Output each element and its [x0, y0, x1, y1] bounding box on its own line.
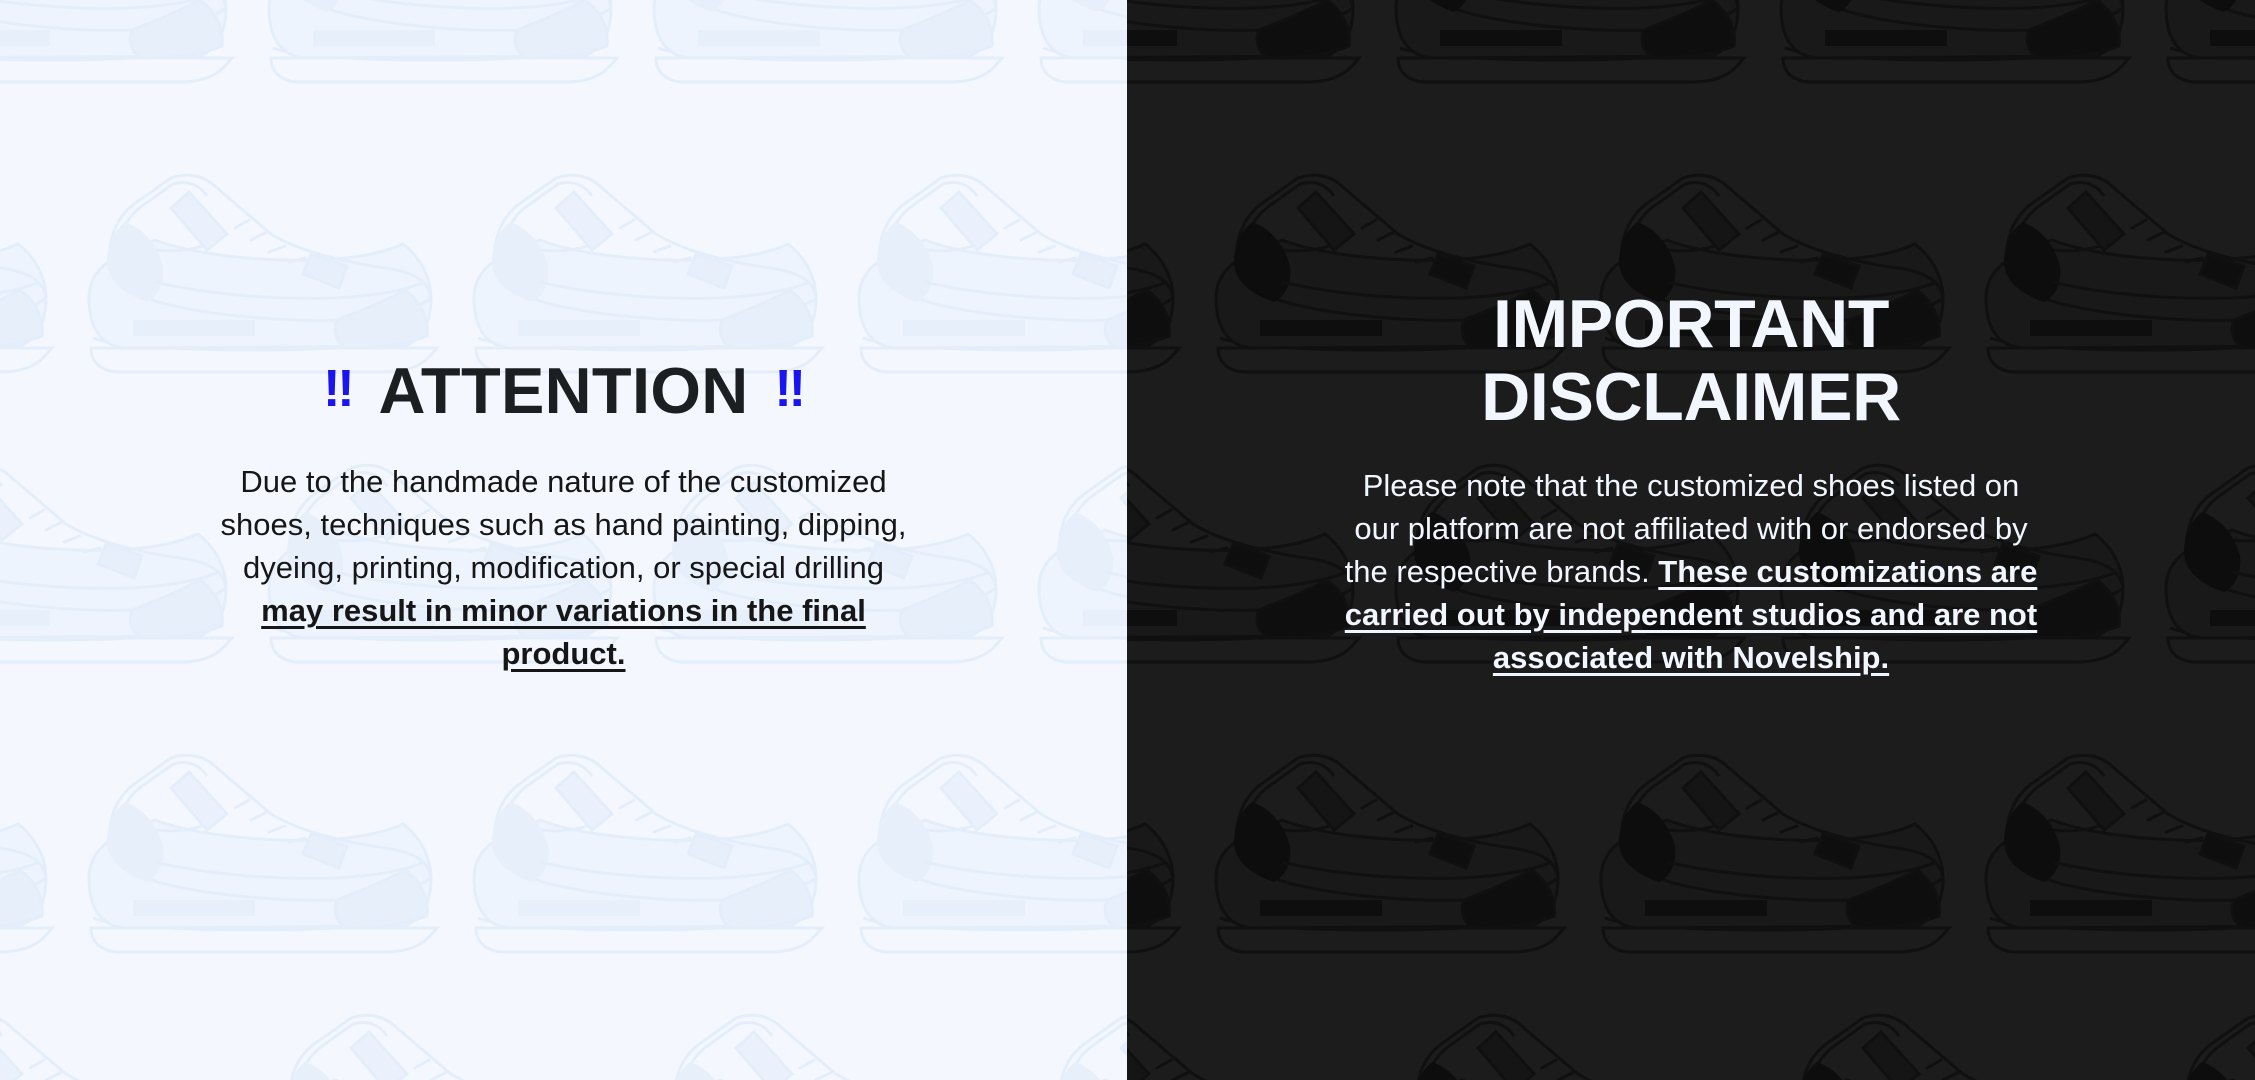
disclaimer-heading-line2: DISCLAIMER: [1481, 359, 1901, 435]
double-exclamation-icon-right: ‼: [775, 363, 804, 415]
disclaimer-content: IMPORTANT DISCLAIMER Please note that th…: [1127, 0, 2255, 679]
double-exclamation-icon-left: ‼: [323, 363, 352, 415]
disclaimer-body: Please note that the customized shoes li…: [1341, 464, 2041, 679]
disclaimer-heading-line1: IMPORTANT: [1493, 286, 1889, 362]
disclaimer-board: ‼ ATTENTION ‼ Due to the handmade nature…: [0, 0, 2255, 1080]
attention-panel: ‼ ATTENTION ‼ Due to the handmade nature…: [0, 0, 1127, 1080]
attention-body-plain: Due to the handmade nature of the custom…: [221, 464, 907, 585]
attention-heading-text: ATTENTION: [378, 358, 748, 424]
attention-heading: ‼ ATTENTION ‼: [323, 358, 804, 424]
disclaimer-heading: IMPORTANT DISCLAIMER: [1481, 288, 1901, 434]
disclaimer-panel: IMPORTANT DISCLAIMER Please note that th…: [1127, 0, 2255, 1080]
attention-content: ‼ ATTENTION ‼ Due to the handmade nature…: [0, 0, 1127, 675]
attention-body-emphasis: may result in minor variations in the fi…: [261, 593, 866, 671]
attention-body: Due to the handmade nature of the custom…: [214, 460, 914, 675]
